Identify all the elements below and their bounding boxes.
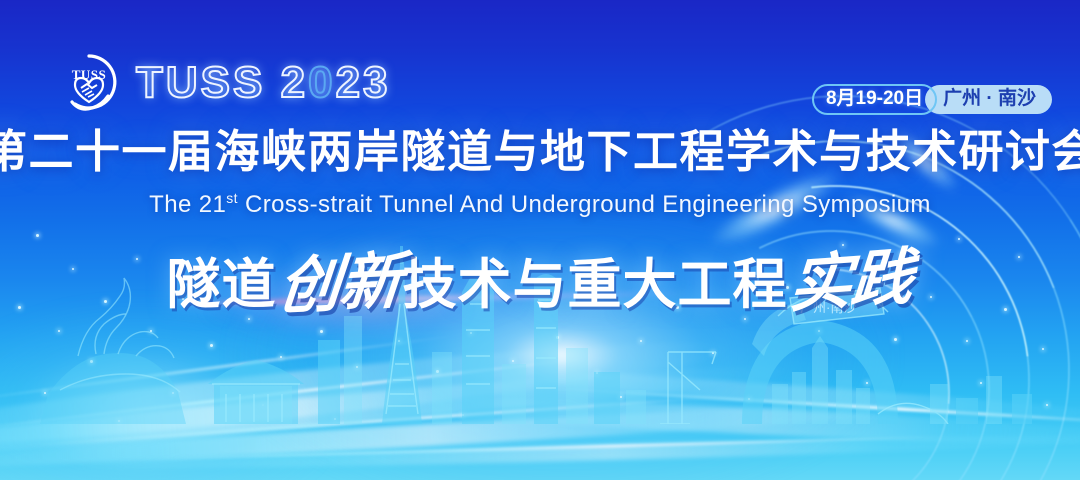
building-6 — [594, 372, 620, 424]
tuss-wordmark: TUSS 2023 — [136, 61, 391, 105]
slogan-part-3: 技术与重大工程 — [403, 258, 788, 312]
wordmark-year-post: 23 — [336, 58, 391, 107]
light-streak-3 — [120, 436, 940, 462]
building-1 — [318, 340, 340, 424]
subtitle-english: The 21st Cross-strait Tunnel And Undergr… — [149, 190, 931, 219]
building-3 — [432, 352, 452, 424]
building-10 — [986, 376, 1002, 424]
slogan-line: 隧道 创新 技术与重大工程 实践 — [166, 254, 913, 316]
building-5 — [566, 348, 588, 424]
slogan-part-1: 隧道 — [166, 258, 276, 312]
harbour-crane — [660, 352, 716, 424]
logo-lockup: TUSS TUSS 2023 — [58, 52, 391, 114]
location-badge: 广州 · 南沙 — [925, 85, 1052, 114]
five-rams-statue — [40, 278, 186, 424]
building-7 — [626, 390, 646, 424]
slogan-part-4-brush: 实践 — [785, 247, 916, 318]
main-title-chinese: 第二十一届海峡两岸隧道与地下工程学术与技术研讨会 — [0, 128, 1080, 175]
wordmark-year-zero: 0 — [308, 58, 335, 107]
building-9 — [956, 398, 978, 424]
building-4 — [502, 364, 526, 424]
building-2 — [344, 316, 362, 424]
subtitle-english-post: Cross-strait Tunnel And Underground Engi… — [238, 191, 931, 218]
inner-tower — [812, 336, 828, 424]
tuss-emblem-icon: TUSS — [58, 52, 120, 114]
slogan-part-2-brush: 创新 — [273, 251, 405, 320]
date-location-badges: 8月19-20日 广州 · 南沙 — [812, 84, 1052, 115]
subtitle-english-pre: The 21 — [149, 191, 226, 218]
wordmark-main: TUSS — [136, 58, 265, 107]
building-11 — [1012, 394, 1032, 424]
conference-banner: 广州·南沙 TUSS TUSS 2023 8月19-20日 广州 · 南沙 第二… — [0, 0, 1080, 480]
wordmark-year-pre: 2 — [281, 58, 308, 107]
subtitle-ordinal-suffix: st — [226, 190, 238, 206]
traditional-pavilion — [208, 360, 304, 424]
light-ribbon-4 — [60, 430, 1080, 475]
building-8 — [930, 384, 948, 424]
date-badge: 8月19-20日 — [812, 84, 937, 115]
